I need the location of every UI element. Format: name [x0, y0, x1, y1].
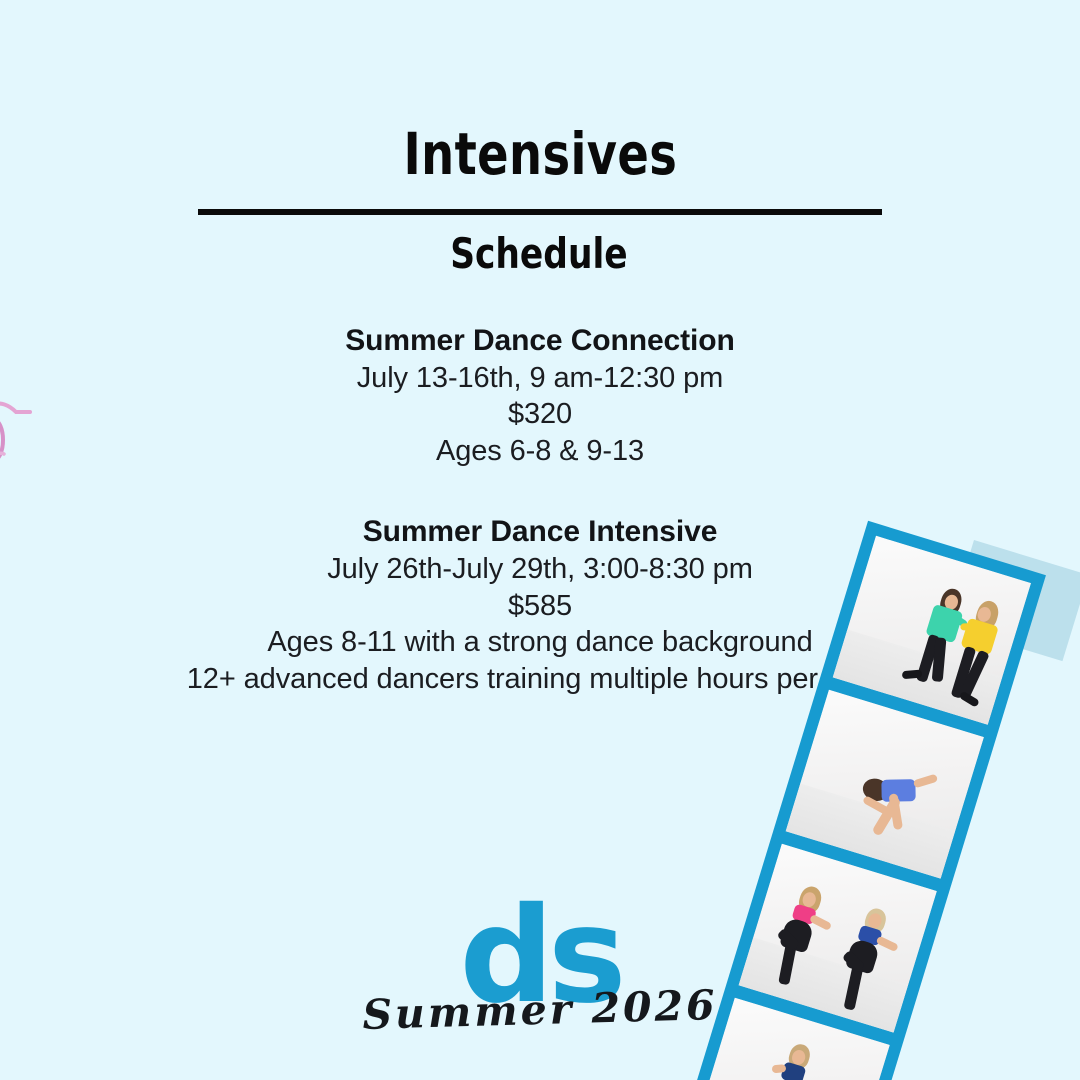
program-name: Summer Dance Connection	[0, 322, 1080, 360]
program-price: $320	[0, 396, 1080, 433]
schedule-block: Summer Dance Connection July 13-16th, 9 …	[0, 322, 1080, 469]
page-title: Intensives	[108, 124, 972, 185]
photo-frame	[739, 844, 937, 1033]
title-divider	[198, 209, 882, 215]
program-detail: July 13-16th, 9 am-12:30 pm	[0, 360, 1080, 397]
section-subtitle: Schedule	[96, 231, 982, 277]
poster-canvas: Intensives Schedule Summer Dance Connect…	[0, 0, 1080, 1080]
photo-filmstrip	[846, 530, 1080, 1080]
photo-frame	[833, 536, 1031, 725]
photo-frame	[786, 690, 984, 879]
program-ages: Ages 6-8 & 9-13	[0, 433, 1080, 470]
